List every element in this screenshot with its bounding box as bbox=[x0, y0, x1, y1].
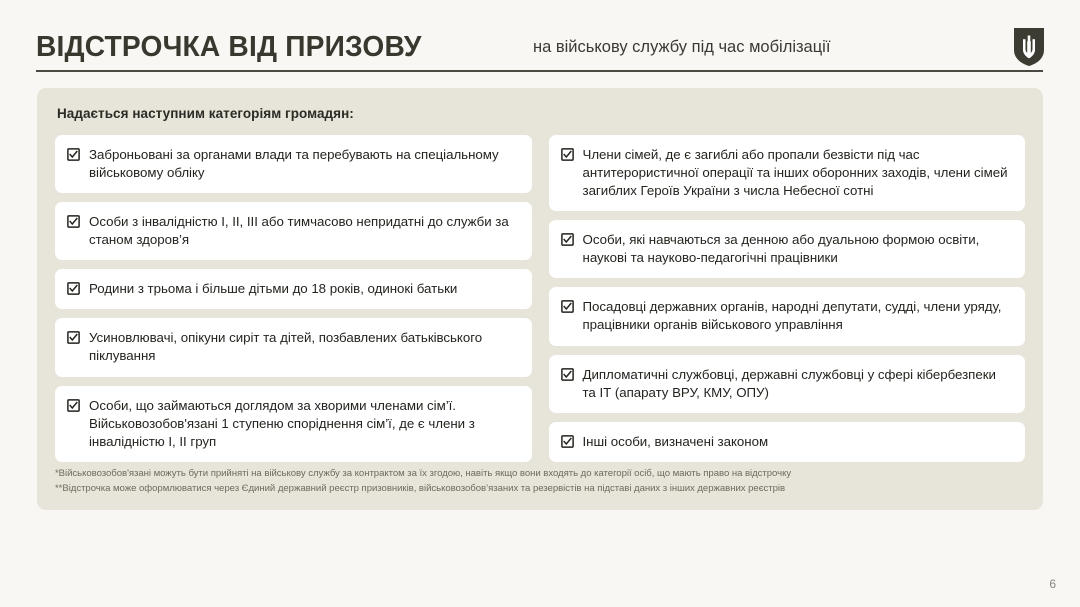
list-item-label: Особи, що займаються доглядом за хворими… bbox=[89, 397, 519, 451]
page-header: ВІДСТРОЧКА ВІД ПРИЗОВУ на військову служ… bbox=[36, 22, 1044, 72]
checked-checkbox-icon bbox=[561, 148, 574, 161]
list-item[interactable]: Інші особи, визначені законом bbox=[549, 422, 1026, 462]
list-item[interactable]: Дипломатичні службовці, державні службов… bbox=[549, 355, 1026, 413]
checked-checkbox-icon bbox=[561, 368, 574, 381]
footnotes: *Військовозобов'язані можуть бути прийня… bbox=[55, 466, 1025, 497]
list-item[interactable]: Родини з трьома і більше дітьми до 18 ро… bbox=[55, 269, 532, 309]
page-number: 6 bbox=[1049, 577, 1056, 591]
checked-checkbox-icon bbox=[561, 233, 574, 246]
checked-checkbox-icon bbox=[561, 300, 574, 313]
categories-columns: Заброньовані за органами влади та перебу… bbox=[55, 135, 1025, 462]
list-item-label: Посадовці державних органів, народні деп… bbox=[583, 298, 1013, 334]
left-column: Заброньовані за органами влади та перебу… bbox=[55, 135, 532, 462]
list-item[interactable]: Члени сімей, де є загиблі або пропали бе… bbox=[549, 135, 1026, 211]
list-item[interactable]: Особи, що займаються доглядом за хворими… bbox=[55, 386, 532, 462]
list-item[interactable]: Усиновлювачі, опікуни сиріт та дітей, по… bbox=[55, 318, 532, 376]
checked-checkbox-icon bbox=[67, 331, 80, 344]
list-item-label: Усиновлювачі, опікуни сиріт та дітей, по… bbox=[89, 329, 519, 365]
list-item-label: Заброньовані за органами влади та перебу… bbox=[89, 146, 519, 182]
header-divider bbox=[36, 70, 1043, 72]
checked-checkbox-icon bbox=[67, 399, 80, 412]
list-item-label: Інші особи, визначені законом bbox=[583, 433, 769, 451]
list-item-label: Особи з інвалідністю I, II, III або тимч… bbox=[89, 213, 519, 249]
list-item[interactable]: Особи, які навчаються за денною або дуал… bbox=[549, 220, 1026, 278]
list-item-label: Члени сімей, де є загиблі або пропали бе… bbox=[583, 146, 1013, 200]
page-subtitle: на військову службу під час мобілізації bbox=[533, 38, 830, 57]
checked-checkbox-icon bbox=[67, 215, 80, 228]
list-item-label: Особи, які навчаються за денною або дуал… bbox=[583, 231, 1013, 267]
checked-checkbox-icon bbox=[561, 435, 574, 448]
list-item-label: Родини з трьома і більше дітьми до 18 ро… bbox=[89, 280, 457, 298]
checked-checkbox-icon bbox=[67, 282, 80, 295]
checked-checkbox-icon bbox=[67, 148, 80, 161]
list-item[interactable]: Посадовці державних органів, народні деп… bbox=[549, 287, 1026, 345]
footnote-double-asterisk: **Відстрочка може оформлюватися через Єд… bbox=[55, 481, 1025, 497]
right-column: Члени сімей, де є загиблі або пропали бе… bbox=[549, 135, 1026, 462]
footnote-single-asterisk: *Військовозобов'язані можуть бути прийня… bbox=[55, 466, 1025, 482]
list-item[interactable]: Заброньовані за органами влади та перебу… bbox=[55, 135, 532, 193]
panel-heading: Надається наступним категоріям громадян: bbox=[57, 106, 1025, 121]
ukraine-trident-shield-icon bbox=[1014, 28, 1044, 66]
list-item-label: Дипломатичні службовці, державні службов… bbox=[583, 366, 1013, 402]
page-title: ВІДСТРОЧКА ВІД ПРИЗОВУ bbox=[36, 31, 422, 64]
list-item[interactable]: Особи з інвалідністю I, II, III або тимч… bbox=[55, 202, 532, 260]
categories-panel: Надається наступним категоріям громадян:… bbox=[37, 88, 1043, 510]
